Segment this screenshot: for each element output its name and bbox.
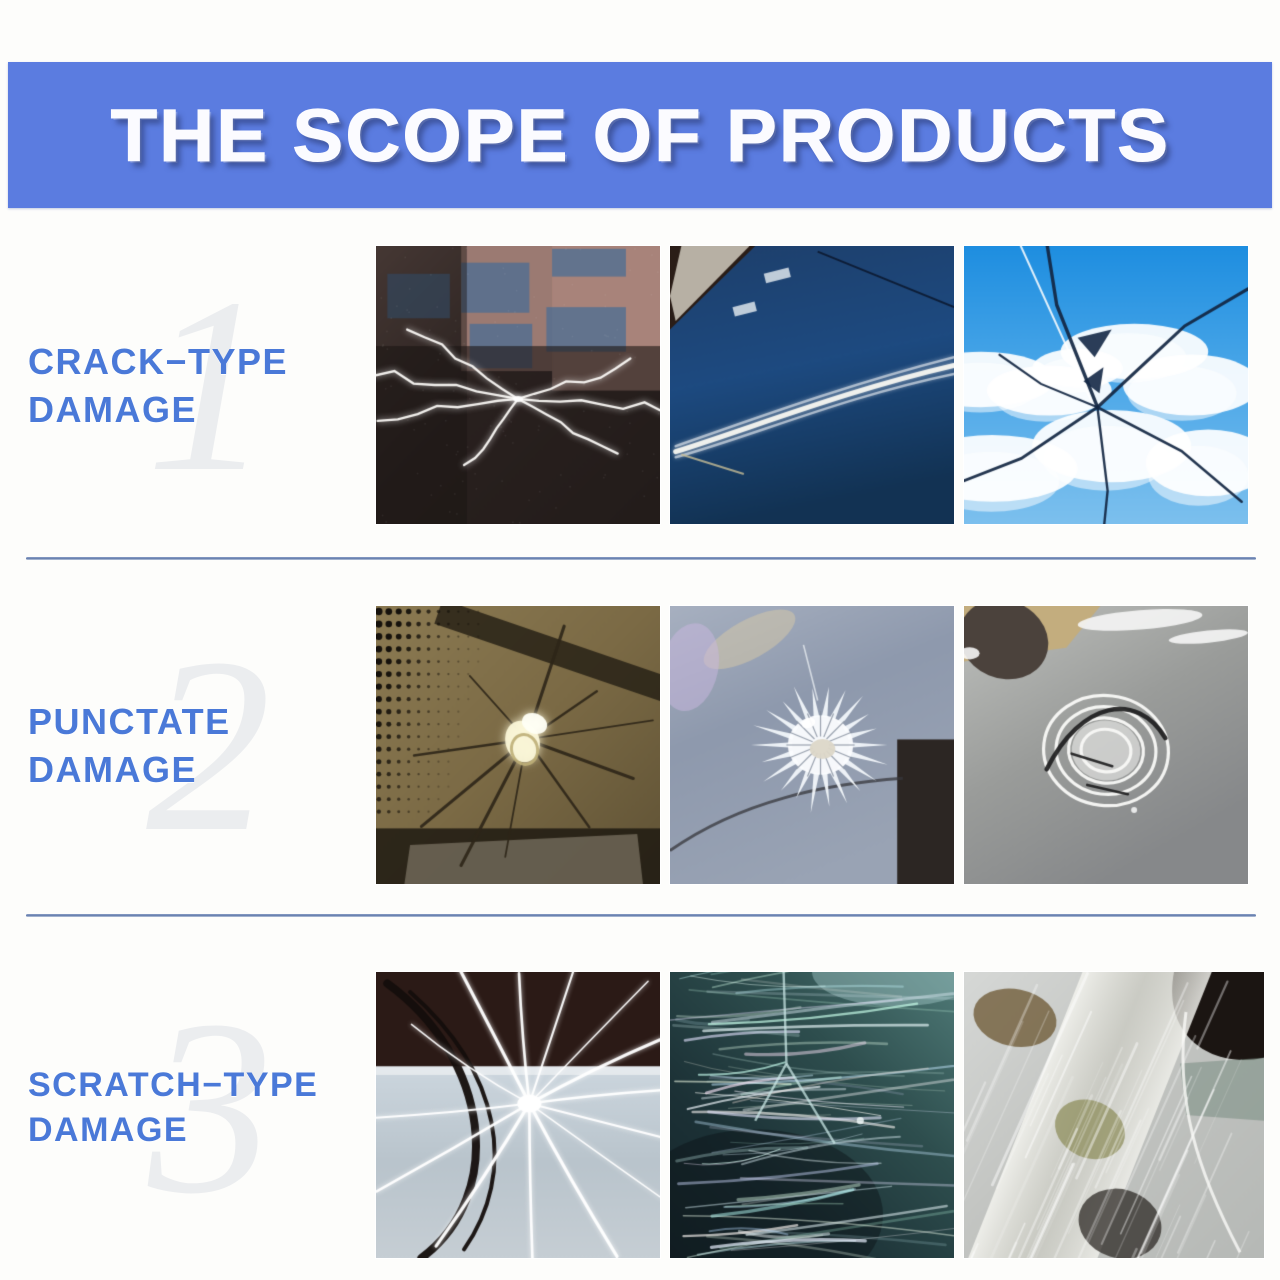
tile-group <box>376 972 1264 1258</box>
tile-group <box>376 606 1248 884</box>
page-title: THE SCOPE OF PRODUCTS <box>110 93 1170 178</box>
damage-category-row: 2 PUNCTATE DAMAGE <box>0 600 1280 892</box>
damage-photo-tile[interactable] <box>964 606 1248 884</box>
damage-photo-tile[interactable] <box>964 246 1248 524</box>
damage-photo-tile[interactable] <box>376 246 660 524</box>
damage-photo-tile[interactable] <box>376 606 660 884</box>
row-label-line2: DAMAGE <box>28 386 368 434</box>
row-divider <box>26 914 1256 917</box>
damage-photo-tile[interactable] <box>670 246 954 524</box>
row-label-group: 2 PUNCTATE DAMAGE <box>28 600 368 892</box>
row-label-line1: PUNCTATE <box>28 698 368 746</box>
damage-photo-tile[interactable] <box>964 972 1264 1258</box>
row-divider <box>26 557 1256 560</box>
row-label-line1: SCRATCH−TYPE <box>28 1063 368 1108</box>
row-label-line1: CRACK−TYPE <box>28 338 368 386</box>
row-label-group: 3 SCRATCH−TYPE DAMAGE <box>28 958 368 1258</box>
damage-category-row: 1 CRACK−TYPE DAMAGE <box>0 240 1280 532</box>
row-label-line2: DAMAGE <box>28 1108 368 1153</box>
damage-photo-tile[interactable] <box>670 972 954 1258</box>
row-label-group: 1 CRACK−TYPE DAMAGE <box>28 240 368 532</box>
header-banner: THE SCOPE OF PRODUCTS <box>8 62 1272 208</box>
damage-photo-tile[interactable] <box>670 606 954 884</box>
damage-photo-tile[interactable] <box>376 972 660 1258</box>
row-label-line2: DAMAGE <box>28 746 368 794</box>
tile-group <box>376 246 1248 524</box>
damage-category-row: 3 SCRATCH−TYPE DAMAGE <box>0 958 1280 1258</box>
